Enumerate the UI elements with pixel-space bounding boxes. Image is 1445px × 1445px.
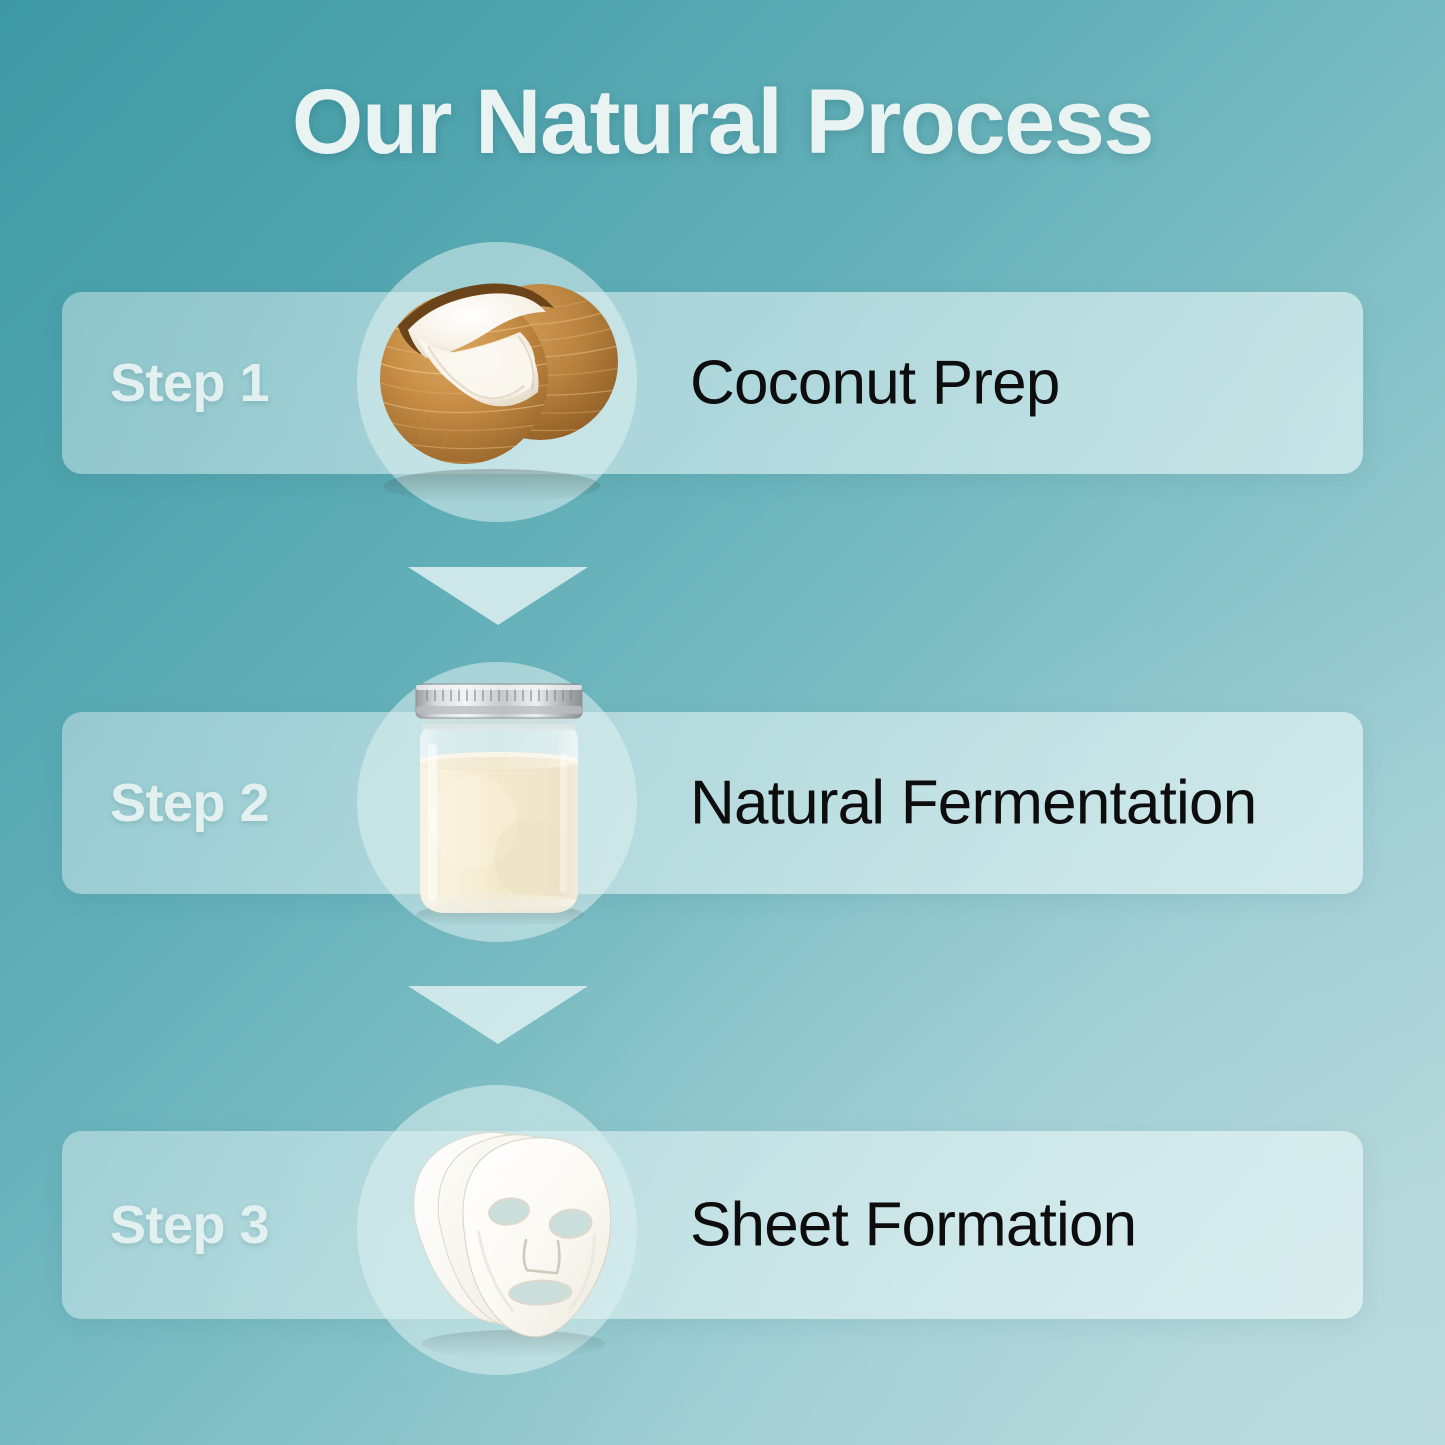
page-title: Our Natural Process [0,74,1445,171]
step-image-backdrop-2 [357,662,637,942]
step-image-backdrop-3 [357,1085,637,1375]
step-row-2: Step 2 Natural Fermentation [0,712,1445,894]
step-title-3: Sheet Formation [690,1190,1136,1261]
step-label-1: Step 1 [110,352,269,414]
step-title-2: Natural Fermentation [690,768,1256,839]
step-row-1: Step 1 Coconut Prep [0,292,1445,474]
step-label-3: Step 3 [110,1194,269,1256]
step-label-2: Step 2 [110,772,269,834]
arrow-down-1 [408,567,588,625]
process-infographic: Our Natural Process Step 1 Coconut Prep [0,0,1445,1445]
step-title-1: Coconut Prep [690,348,1060,419]
arrow-down-2 [408,986,588,1044]
arrow-down-icon [408,567,588,625]
step-row-3: Step 3 Sheet Formation [0,1131,1445,1319]
arrow-down-icon [408,986,588,1044]
step-image-backdrop-1 [357,242,637,522]
